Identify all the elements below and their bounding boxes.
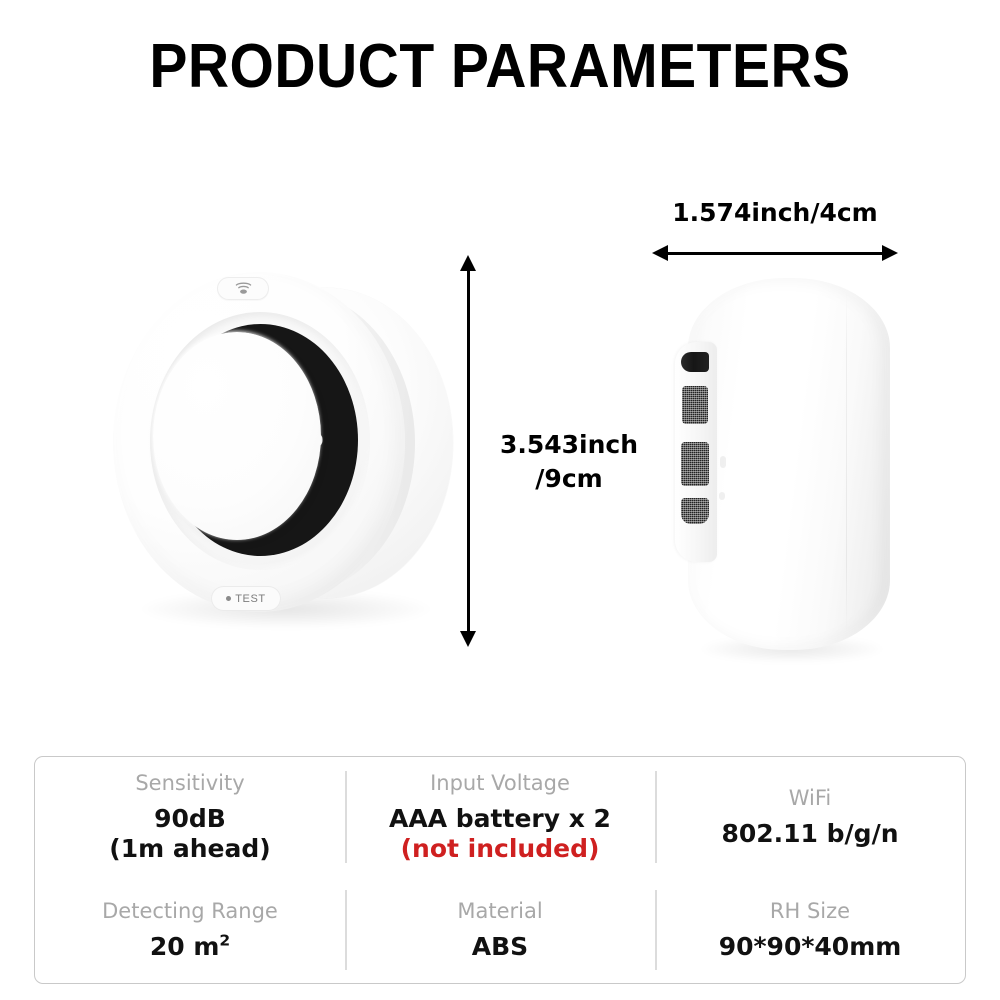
arrow-right-icon xyxy=(882,245,898,261)
spec-value-primary: AAA battery x 2 xyxy=(389,804,611,833)
spec-value: 90*90*40mm xyxy=(719,932,902,963)
vent-slot xyxy=(681,352,709,372)
spec-cell-material: Material ABS xyxy=(345,877,655,983)
spec-cell-wifi: WiFi 802.11 b/g/n xyxy=(655,757,965,877)
spec-label: RH Size xyxy=(770,898,850,924)
spec-value-primary: 90*90*40mm xyxy=(719,932,902,961)
page-title: PRODUCT PARAMETERS xyxy=(40,36,960,98)
spec-cell-sensitivity: Sensitivity 90dB (1m ahead) xyxy=(35,757,345,877)
arrow-shaft xyxy=(665,252,885,255)
table-row: Detecting Range 20 m2 Material ABS RH Si… xyxy=(35,877,965,983)
spec-value: AAA battery x 2 (not included) xyxy=(389,804,611,865)
spec-cell-input-voltage: Input Voltage AAA battery x 2 (not inclu… xyxy=(345,757,655,877)
spec-label: Sensitivity xyxy=(135,770,244,796)
height-dimension-arrow xyxy=(460,255,476,647)
spec-cell-detecting-range: Detecting Range 20 m2 xyxy=(35,877,345,983)
spec-label: Input Voltage xyxy=(430,770,570,796)
vent-slot xyxy=(682,386,708,424)
smoke-detector-side-view xyxy=(650,270,900,660)
vent-slot xyxy=(681,498,709,524)
table-row: Sensitivity 90dB (1m ahead) Input Voltag… xyxy=(35,757,965,877)
arrow-shaft xyxy=(467,268,470,634)
detector-body-seam xyxy=(846,292,847,632)
detector-pin-hole xyxy=(720,456,726,468)
spec-label: Detecting Range xyxy=(102,898,278,924)
spec-value-secondary-alert: (not included) xyxy=(389,834,611,865)
vent-slot xyxy=(681,442,709,486)
spec-value: 802.11 b/g/n xyxy=(721,819,898,850)
spec-value: 90dB (1m ahead) xyxy=(109,804,270,865)
spec-value: ABS xyxy=(472,932,528,963)
detector-center-cap xyxy=(153,332,321,540)
test-button[interactable]: TEST xyxy=(211,586,281,611)
specifications-table: Sensitivity 90dB (1m ahead) Input Voltag… xyxy=(34,756,966,984)
spec-value-primary: 90dB xyxy=(154,804,226,833)
product-image-stage: TEST 3.543inch /9cm 1.574inch/4cm xyxy=(0,140,1000,740)
spec-value-superscript: 2 xyxy=(219,932,230,950)
height-dimension-label: 3.543inch /9cm xyxy=(484,428,654,496)
wifi-signal-icon xyxy=(235,282,252,295)
spec-cell-rh-size: RH Size 90*90*40mm xyxy=(655,877,965,983)
detector-pin-hole xyxy=(719,492,725,500)
arrow-down-icon xyxy=(460,631,476,647)
spec-value-primary: ABS xyxy=(472,932,528,961)
diameter-dimension-label: 1.574inch/4cm xyxy=(630,200,920,225)
test-indicator-dot xyxy=(226,596,231,601)
smoke-detector-front-view: TEST xyxy=(105,260,455,635)
test-button-label: TEST xyxy=(235,593,266,605)
spec-value-secondary: (1m ahead) xyxy=(109,834,270,865)
wifi-button[interactable] xyxy=(217,277,269,300)
spec-label: WiFi xyxy=(789,785,832,811)
spec-value-primary: 802.11 b/g/n xyxy=(721,819,898,848)
spec-value: 20 m2 xyxy=(150,932,230,963)
spec-value-primary: 20 m xyxy=(150,932,220,961)
detector-side-body xyxy=(688,278,890,650)
diameter-dimension-arrow xyxy=(652,245,898,261)
spec-label: Material xyxy=(457,898,542,924)
